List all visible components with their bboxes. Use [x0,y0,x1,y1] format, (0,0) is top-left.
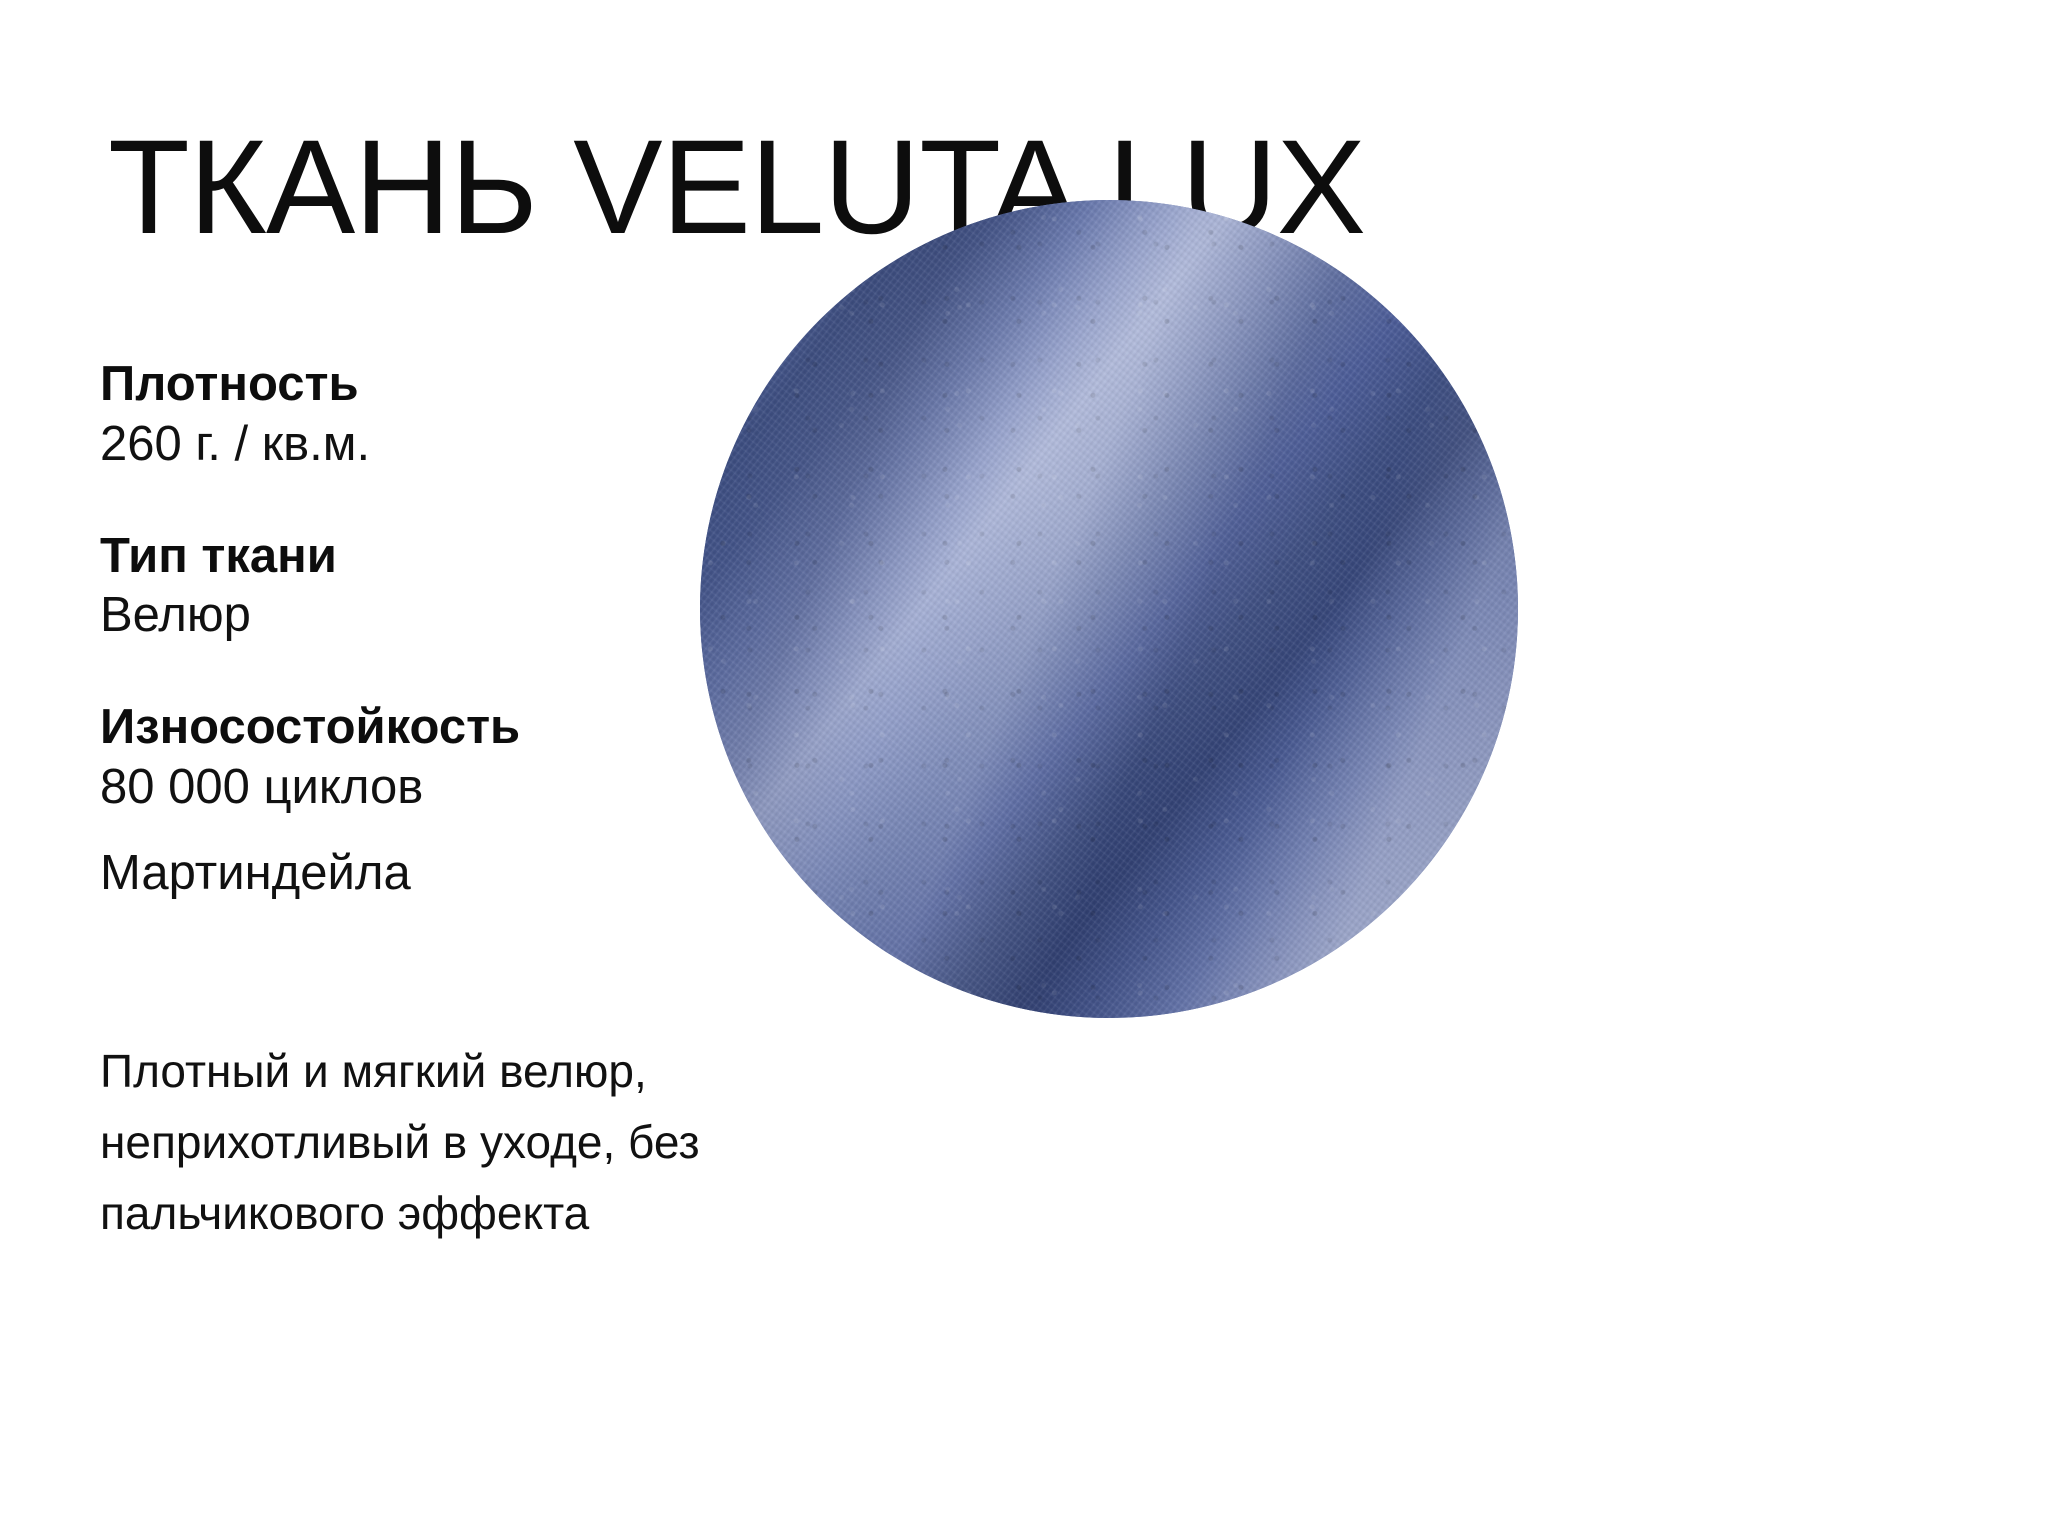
fabric-description: Плотный и мягкий велюр, неприхотливый в … [100,1036,920,1248]
swatch-vignette [700,200,1518,1018]
fabric-swatch-image [700,200,1518,1018]
fabric-spec-card: ТКАНЬ VELUTA LUX Плотность 260 г. / кв.м… [0,0,2048,1536]
